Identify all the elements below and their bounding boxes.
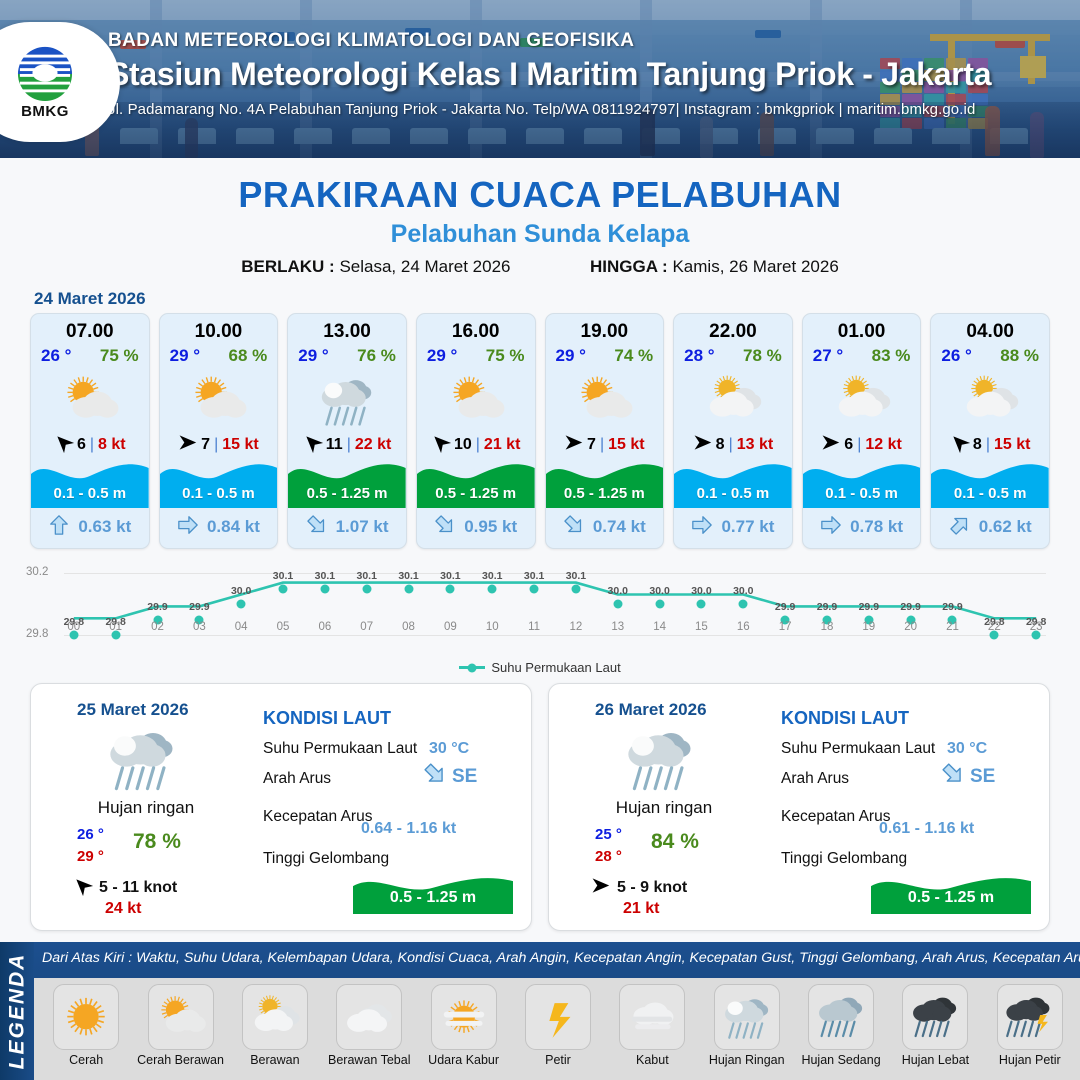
chart-point (237, 600, 246, 609)
cerah-icon (53, 984, 119, 1050)
chart-point-label: 29.9 (189, 601, 209, 613)
sst-label: Suhu Permukaan Laut (263, 740, 417, 758)
berawan-icon (803, 368, 921, 432)
card-humidity: 83 % (872, 346, 911, 366)
validity-line: BERLAKU : Selasa, 24 Maret 2026 HINGGA :… (0, 257, 1080, 277)
card-temperature: 29 ° (170, 346, 200, 366)
chart-point-label: 29.9 (900, 601, 920, 613)
hourly-forecast-row: 07.00 26 ° 75 % 6 | 8 kt 0.1 - 0.5 m 0.6… (0, 313, 1080, 549)
chart-point-label: 30.1 (273, 570, 293, 582)
chart-xtick: 03 (193, 621, 206, 633)
bmkg-logo-mark (16, 45, 74, 101)
chart-xtick: 23 (1030, 621, 1043, 633)
chart-point-label: 29.9 (859, 601, 879, 613)
chart-xtick: 22 (988, 621, 1001, 633)
wind-direction-icon (591, 876, 610, 900)
card-temperature: 26 ° (941, 346, 971, 366)
chart-point (488, 584, 497, 593)
chart-xtick: 05 (277, 621, 290, 633)
card-humidity: 75 % (486, 346, 525, 366)
page-title: PRAKIRAAN CUACA PELABUHAN (0, 174, 1080, 216)
legend-item-label: Hujan Lebat (902, 1053, 969, 1067)
day-gust: 21 kt (623, 900, 659, 918)
forecast-card: 10.00 29 ° 68 % 7 | 15 kt 0.1 - 0.5 m 0.… (159, 313, 279, 549)
legend-item: Berawan (229, 984, 321, 1067)
kabut-icon (619, 984, 685, 1050)
current-direction-icon (48, 514, 70, 541)
card-wave-height: 0.1 - 0.5 m (160, 478, 278, 508)
card-current-speed: 0.84 kt (207, 517, 260, 537)
card-current-speed: 0.63 kt (78, 517, 131, 537)
day-temp-max: 29 ° (77, 848, 104, 865)
sst-value: 30 °C (947, 740, 987, 758)
day-wind: 5 - 9 knot (591, 876, 687, 900)
card-time: 07.00 (31, 314, 149, 343)
chart-point-label: 30.0 (608, 585, 628, 597)
legend-item: Hujan Sedang (795, 984, 887, 1067)
chart-point (655, 600, 664, 609)
card-temperature: 28 ° (684, 346, 714, 366)
station-name: Stasiun Meteorologi Kelas I Maritim Tanj… (108, 56, 991, 93)
chart-point-label: 30.1 (440, 570, 460, 582)
legend-item: Hujan Ringan (701, 984, 793, 1067)
card-current-speed: 0.74 kt (593, 517, 646, 537)
card-temperature: 26 ° (41, 346, 71, 366)
forecast-card: 19.00 29 ° 74 % 7 | 15 kt 0.5 - 1.25 m 0… (545, 313, 665, 549)
current-direction-value: SE (941, 762, 995, 791)
chart-point (739, 600, 748, 609)
daily-forecast-panel: 26 Maret 2026 Hujan ringan 25 ° 28 ° 84 … (548, 683, 1050, 931)
legend-item-label: Petir (545, 1053, 571, 1067)
current-direction-icon (949, 514, 971, 541)
chart-xtick: 11 (528, 621, 540, 633)
current-direction-icon (941, 762, 965, 791)
day-date: 25 Maret 2026 (77, 700, 189, 720)
chart-point (362, 584, 371, 593)
sea-condition-title: KONDISI LAUT (781, 708, 909, 729)
day-condition: Hujan ringan (51, 798, 241, 818)
sst-chart: 30.229.829.80029.80129.90229.90330.00430… (26, 563, 1054, 658)
page-subtitle: Pelabuhan Sunda Kelapa (0, 220, 1080, 249)
chart-legend: Suhu Permukaan Laut (0, 660, 1080, 675)
wind-direction-icon (73, 876, 92, 900)
wave-height-label: Tinggi Gelombang (263, 850, 389, 868)
card-time: 10.00 (160, 314, 278, 343)
bmkg-logo-text: BMKG (21, 103, 69, 120)
chart-xtick: 07 (360, 621, 373, 633)
card-current: 0.84 kt (160, 510, 278, 544)
legend-item: Cerah (40, 984, 132, 1067)
legend-side-title: LEGENDA (0, 942, 34, 1080)
chart-point-label: 30.1 (315, 570, 335, 582)
chart-ytick-min: 29.8 (26, 628, 48, 640)
card-current-speed: 0.78 kt (850, 517, 903, 537)
cerah-berawan-icon (31, 368, 149, 432)
sst-value: 30 °C (429, 740, 469, 758)
agency-name: BADAN METEOROLOGI KLIMATOLOGI DAN GEOFIS… (108, 30, 991, 52)
legend-item-label: Cerah (69, 1053, 103, 1067)
chart-xtick: 00 (67, 621, 80, 633)
station-address: Jl. Padamarang No. 4A Pelabuhan Tanjung … (108, 101, 991, 118)
chart-point-label: 30.1 (566, 570, 586, 582)
day-wave-graphic: 0.5 - 1.25 m (353, 868, 513, 914)
legend-item: Hujan Petir (984, 984, 1076, 1067)
card-current: 0.78 kt (803, 510, 921, 544)
card-humidity: 68 % (229, 346, 268, 366)
sea-condition-title: KONDISI LAUT (263, 708, 391, 729)
forecast-date-label: 24 Maret 2026 (34, 289, 1080, 309)
legend-item-label: Kabut (636, 1053, 669, 1067)
chart-point-label: 30.1 (398, 570, 418, 582)
chart-xtick: 15 (695, 621, 708, 633)
card-wave-height: 0.1 - 0.5 m (674, 478, 792, 508)
legend-item: Kabut (606, 984, 698, 1067)
hujan-sedang-icon (808, 984, 874, 1050)
chart-point (446, 584, 455, 593)
chart-xtick: 09 (444, 621, 457, 633)
chart-point-label: 30.0 (649, 585, 669, 597)
forecast-card: 07.00 26 ° 75 % 6 | 8 kt 0.1 - 0.5 m 0.6… (30, 313, 150, 549)
card-current-speed: 0.95 kt (464, 517, 517, 537)
forecast-card: 01.00 27 ° 83 % 6 | 12 kt 0.1 - 0.5 m (802, 313, 922, 549)
valid-to-value: Kamis, 26 Maret 2026 (672, 257, 838, 276)
hujan-petir-icon (997, 984, 1063, 1050)
chart-xtick: 21 (946, 621, 959, 633)
hujan-ringan-icon (621, 724, 699, 797)
legend-item-label: Hujan Sedang (801, 1053, 880, 1067)
berawan-icon (674, 368, 792, 432)
card-time: 04.00 (931, 314, 1049, 343)
legend-item: Petir (512, 984, 604, 1067)
chart-point-label: 29.9 (942, 601, 962, 613)
chart-point-label: 30.1 (482, 570, 502, 582)
card-current-speed: 1.07 kt (336, 517, 389, 537)
day-date: 26 Maret 2026 (595, 700, 707, 720)
day-humidity: 78 % (133, 830, 181, 854)
card-wave-height: 0.5 - 1.25 m (288, 478, 406, 508)
day-condition: Hujan ringan (569, 798, 759, 818)
current-direction-icon (306, 514, 328, 541)
card-current: 1.07 kt (288, 510, 406, 544)
page-header: BMKG BADAN METEOROLOGI KLIMATOLOGI DAN G… (0, 0, 1080, 158)
petir-icon (525, 984, 591, 1050)
day-temp-min: 26 ° (77, 826, 104, 843)
chart-xtick: 18 (821, 621, 834, 633)
day-wind: 5 - 11 knot (73, 876, 177, 900)
chart-point (571, 584, 580, 593)
card-current-speed: 0.62 kt (979, 517, 1032, 537)
berawan-tebal-icon (336, 984, 402, 1050)
current-direction-label: Arah Arus (781, 770, 849, 788)
current-direction-icon (820, 514, 842, 541)
daily-forecast-panel: 25 Maret 2026 Hujan ringan 26 ° 29 ° 78 … (30, 683, 532, 931)
current-speed-value: 0.61 - 1.16 kt (879, 820, 974, 838)
chart-point-label: 30.0 (733, 585, 753, 597)
current-direction-label: Arah Arus (263, 770, 331, 788)
berawan-icon (242, 984, 308, 1050)
card-current-speed: 0.77 kt (721, 517, 774, 537)
current-direction-value: SE (423, 762, 477, 791)
chart-xtick: 17 (779, 621, 792, 633)
legend-item: Hujan Lebat (889, 984, 981, 1067)
legend-item: Cerah Berawan (134, 984, 226, 1067)
cerah-berawan-icon (160, 368, 278, 432)
day-humidity: 84 % (651, 830, 699, 854)
card-current: 0.62 kt (931, 510, 1049, 544)
legend-item: Berawan Tebal (323, 984, 415, 1067)
title-block: PRAKIRAAN CUACA PELABUHAN Pelabuhan Sund… (0, 158, 1080, 277)
chart-xtick: 20 (904, 621, 917, 633)
chart-xtick: 02 (151, 621, 164, 633)
chart-point (320, 584, 329, 593)
forecast-card: 13.00 29 ° 76 % 11 | 22 kt 0.5 - 1.25 m (287, 313, 407, 549)
chart-point (697, 600, 706, 609)
chart-point-label: 29.9 (817, 601, 837, 613)
current-speed-value: 0.64 - 1.16 kt (361, 820, 456, 838)
card-humidity: 88 % (1000, 346, 1039, 366)
chart-point-label: 29.9 (775, 601, 795, 613)
legend-item-label: Berawan (250, 1053, 299, 1067)
chart-xtick: 06 (318, 621, 331, 633)
current-speed-label: Kecepatan Arus (263, 808, 372, 826)
current-direction-icon (691, 514, 713, 541)
chart-xtick: 19 (862, 621, 875, 633)
card-current: 0.74 kt (546, 510, 664, 544)
card-wave-height: 0.5 - 1.25 m (546, 478, 664, 508)
bmkg-logo: BMKG (0, 22, 120, 142)
cerah-berawan-icon (417, 368, 535, 432)
card-humidity: 76 % (357, 346, 396, 366)
legend-side-title-text: LEGENDA (5, 953, 29, 1070)
chart-xtick: 01 (109, 621, 122, 633)
forecast-card: 22.00 28 ° 78 % 8 | 13 kt 0.1 - 0.5 m (673, 313, 793, 549)
legend-note: Dari Atas Kiri : Waktu, Suhu Udara, Kele… (42, 950, 1072, 966)
chart-point-label: 30.1 (356, 570, 376, 582)
sst-label: Suhu Permukaan Laut (781, 740, 935, 758)
legend-item-label: Udara Kabur (428, 1053, 499, 1067)
valid-to-label: HINGGA : (590, 257, 668, 276)
chart-point (404, 584, 413, 593)
chart-point (613, 600, 622, 609)
chart-point (279, 584, 288, 593)
legend-item-label: Hujan Ringan (709, 1053, 785, 1067)
day-wind-range: 5 - 9 knot (617, 879, 687, 897)
current-direction-icon (434, 514, 456, 541)
legend-items: Cerah Cerah Berawan Berawan Berawan Teba… (34, 978, 1080, 1080)
chart-xtick: 04 (235, 621, 248, 633)
card-humidity: 75 % (100, 346, 139, 366)
hujan-ringan-icon (714, 984, 780, 1050)
current-direction-icon (423, 762, 447, 791)
card-temperature: 27 ° (813, 346, 843, 366)
card-time: 16.00 (417, 314, 535, 343)
chart-legend-label: Suhu Permukaan Laut (491, 660, 620, 675)
current-direction-icon (563, 514, 585, 541)
chart-xtick: 10 (486, 621, 499, 633)
card-temperature: 29 ° (556, 346, 586, 366)
header-text-block: BADAN METEOROLOGI KLIMATOLOGI DAN GEOFIS… (108, 30, 991, 118)
hujan-ringan-icon (288, 368, 406, 432)
day-temp-min: 25 ° (595, 826, 622, 843)
card-wave-height: 0.1 - 0.5 m (803, 478, 921, 508)
legend-bar: LEGENDA Dari Atas Kiri : Waktu, Suhu Uda… (0, 942, 1080, 1080)
cerah-berawan-icon (148, 984, 214, 1050)
card-time: 01.00 (803, 314, 921, 343)
card-wave-height: 0.5 - 1.25 m (417, 478, 535, 508)
legend-item-label: Cerah Berawan (137, 1053, 224, 1067)
chart-point-label: 30.1 (524, 570, 544, 582)
valid-from-value: Selasa, 24 Maret 2026 (339, 257, 510, 276)
chart-xtick: 16 (737, 621, 750, 633)
current-speed-label: Kecepatan Arus (781, 808, 890, 826)
day-wave-graphic: 0.5 - 1.25 m (871, 868, 1031, 914)
legend-item-label: Berawan Tebal (328, 1053, 410, 1067)
card-current: 0.77 kt (674, 510, 792, 544)
hujan-ringan-icon (103, 724, 181, 797)
chart-legend-marker-icon (459, 666, 485, 669)
day-wave-height: 0.5 - 1.25 m (871, 868, 1031, 914)
chart-xtick: 08 (402, 621, 415, 633)
card-current: 0.95 kt (417, 510, 535, 544)
current-direction-icon (177, 514, 199, 541)
chart-point-label: 30.0 (231, 585, 251, 597)
chart-xtick: 12 (570, 621, 583, 633)
forecast-card: 04.00 26 ° 88 % 8 | 15 kt 0.1 - 0.5 m (930, 313, 1050, 549)
day-temp-max: 28 ° (595, 848, 622, 865)
chart-ytick-max: 30.2 (26, 566, 48, 578)
day-wind-range: 5 - 11 knot (99, 879, 177, 897)
chart-point-label: 30.0 (691, 585, 711, 597)
valid-from-label: BERLAKU : (241, 257, 335, 276)
chart-point-label: 29.9 (147, 601, 167, 613)
card-time: 19.00 (546, 314, 664, 343)
chart-xtick: 13 (611, 621, 624, 633)
berawan-icon (931, 368, 1049, 432)
card-temperature: 29 ° (298, 346, 328, 366)
udara-kabur-icon (431, 984, 497, 1050)
forecast-card: 16.00 29 ° 75 % 10 | 21 kt 0.5 - 1.25 m … (416, 313, 536, 549)
card-wave-height: 0.1 - 0.5 m (31, 478, 149, 508)
chart-plot-area: 29.80029.80129.90229.90330.00430.10530.1… (64, 563, 1046, 636)
card-temperature: 29 ° (427, 346, 457, 366)
card-wave-height: 0.1 - 0.5 m (931, 478, 1049, 508)
card-humidity: 78 % (743, 346, 782, 366)
legend-item-label: Hujan Petir (999, 1053, 1061, 1067)
chart-xtick: 14 (653, 621, 666, 633)
chart-point (530, 584, 539, 593)
card-time: 22.00 (674, 314, 792, 343)
day-wave-height: 0.5 - 1.25 m (353, 868, 513, 914)
card-time: 13.00 (288, 314, 406, 343)
legend-item: Udara Kabur (417, 984, 509, 1067)
daily-forecast-row: 25 Maret 2026 Hujan ringan 26 ° 29 ° 78 … (0, 683, 1080, 931)
wave-height-label: Tinggi Gelombang (781, 850, 907, 868)
hujan-lebat-icon (902, 984, 968, 1050)
card-humidity: 74 % (614, 346, 653, 366)
cerah-berawan-icon (546, 368, 664, 432)
day-gust: 24 kt (105, 900, 141, 918)
card-current: 0.63 kt (31, 510, 149, 544)
